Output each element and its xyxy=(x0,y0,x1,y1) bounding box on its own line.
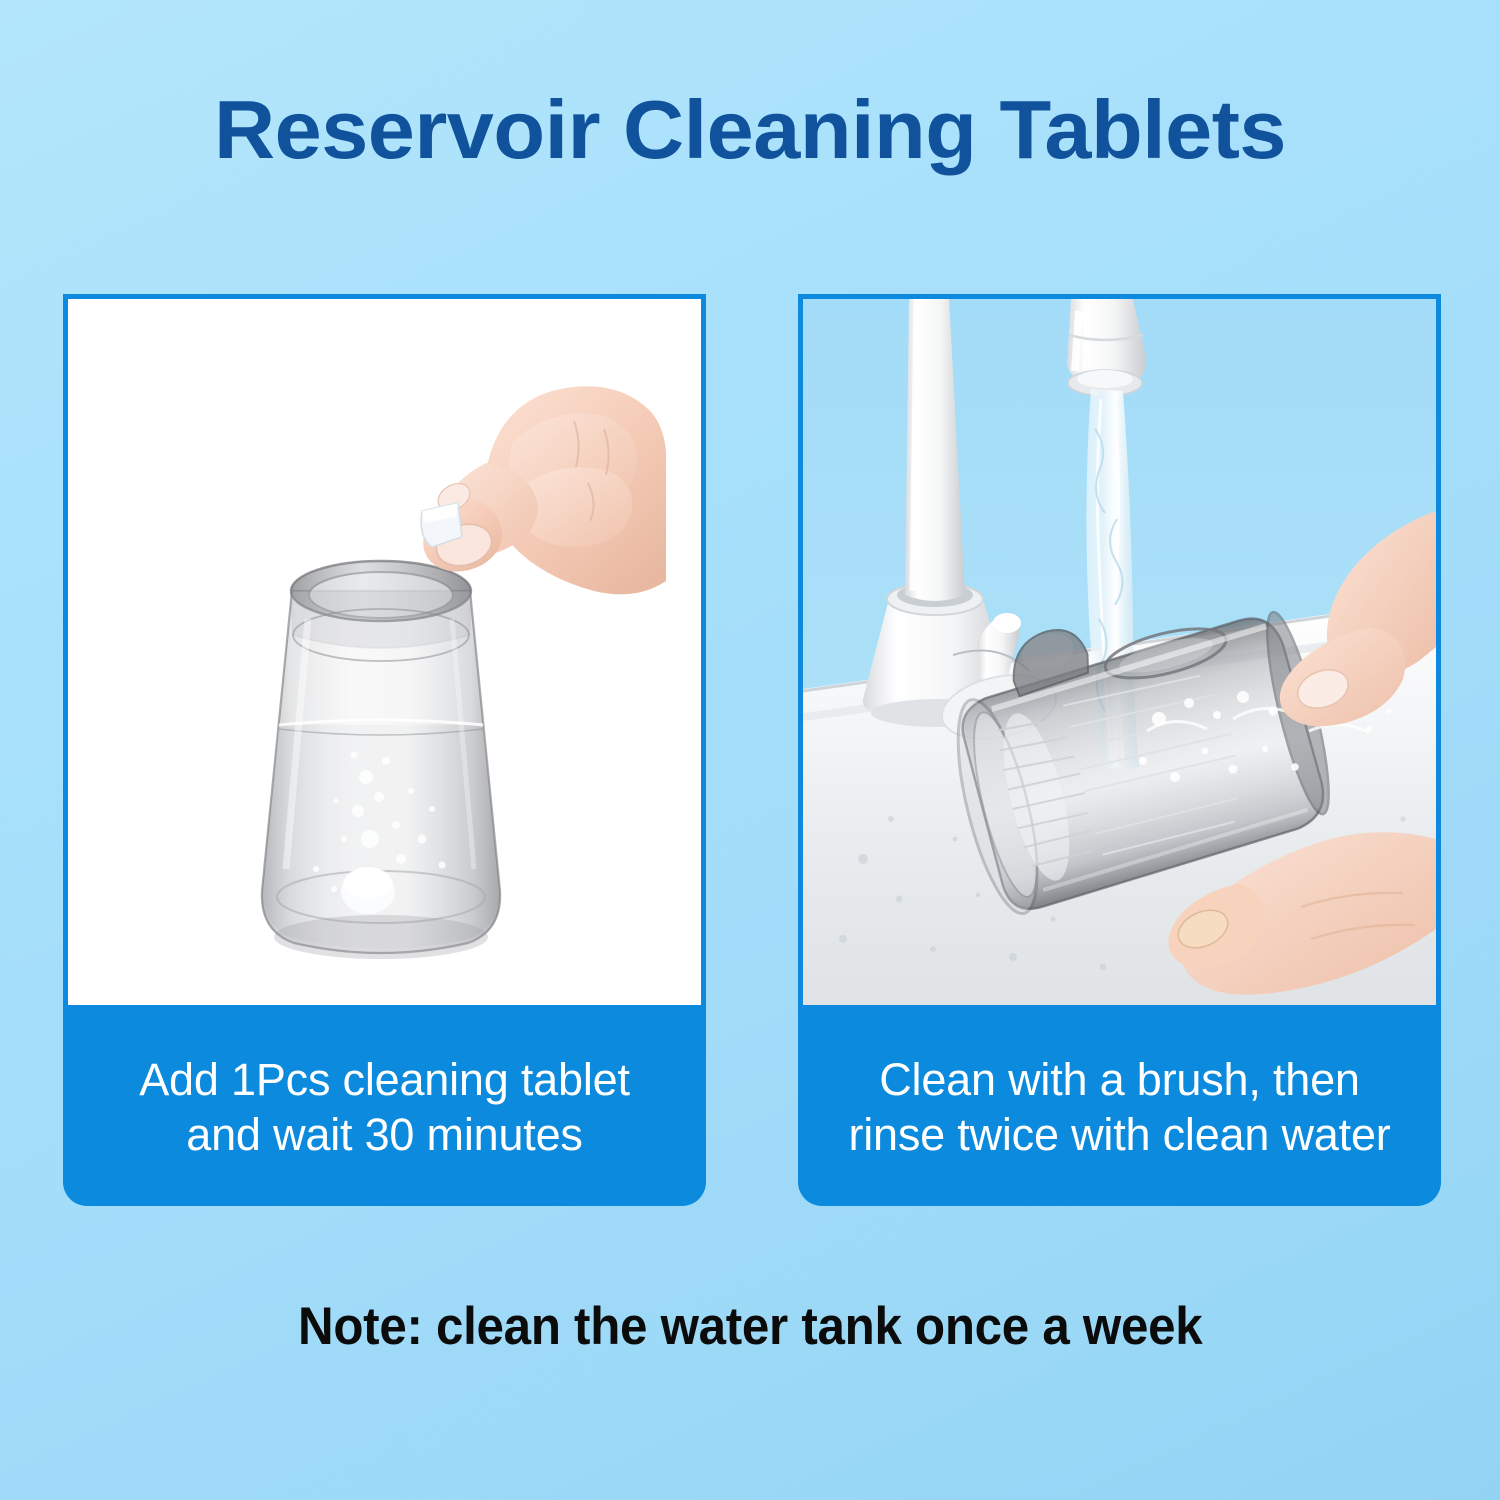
step-2-caption: Clean with a brush, then rinse twice wit… xyxy=(798,1010,1441,1206)
note-container: Note: clean the water tank once a week xyxy=(0,1296,1500,1357)
step-1-photo xyxy=(63,294,706,1010)
rinsing-scene-icon xyxy=(803,299,1436,1005)
step-2-caption-text: Clean with a brush, then rinse twice wit… xyxy=(848,1053,1390,1163)
rinse-illustration xyxy=(803,299,1436,1005)
step-1-caption-line-2: and wait 30 minutes xyxy=(139,1108,630,1163)
step-1-caption: Add 1Pcs cleaning tablet and wait 30 min… xyxy=(63,1010,706,1206)
page-title: Reservoir Cleaning Tablets xyxy=(0,88,1500,171)
hand-holding-tablet-icon xyxy=(336,351,666,651)
note-text: Note: clean the water tank once a week xyxy=(298,1296,1202,1357)
step-2-caption-line-1: Clean with a brush, then xyxy=(848,1053,1390,1108)
step-card-2: Clean with a brush, then rinse twice wit… xyxy=(798,294,1441,1206)
page-title-container: Reservoir Cleaning Tablets xyxy=(0,88,1500,171)
step-card-1: Add 1Pcs cleaning tablet and wait 30 min… xyxy=(63,294,706,1206)
tablet-drop-illustration xyxy=(68,299,701,1005)
step-1-caption-text: Add 1Pcs cleaning tablet and wait 30 min… xyxy=(139,1053,630,1163)
step-1-caption-line-1: Add 1Pcs cleaning tablet xyxy=(139,1053,630,1108)
steps-container: Add 1Pcs cleaning tablet and wait 30 min… xyxy=(63,294,1441,1206)
step-2-caption-line-2: rinse twice with clean water xyxy=(848,1108,1390,1163)
step-2-photo xyxy=(798,294,1441,1010)
